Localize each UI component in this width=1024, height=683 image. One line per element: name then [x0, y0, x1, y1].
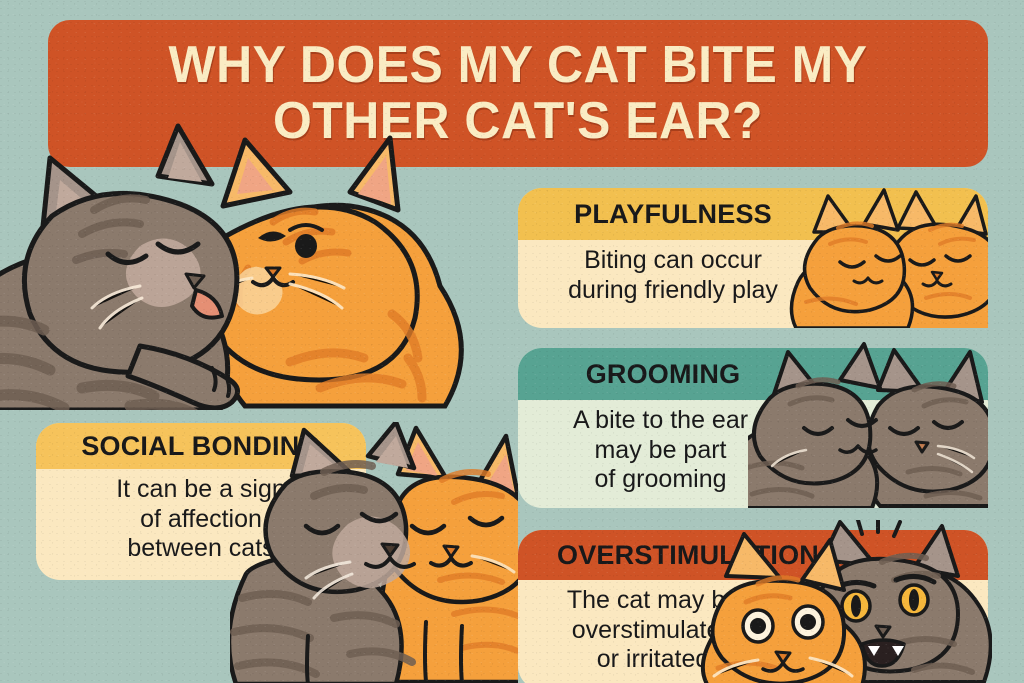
- hero-illustration: [0, 118, 510, 428]
- illustration-grooming: [748, 340, 994, 512]
- illustration-playfulness: [780, 186, 992, 330]
- illustration-social-bonding: [230, 422, 520, 683]
- card-playfulness-title: PLAYFULNESS: [574, 199, 772, 230]
- illustration-overstimulation: [700, 520, 1000, 683]
- card-grooming-title: GROOMING: [586, 359, 741, 390]
